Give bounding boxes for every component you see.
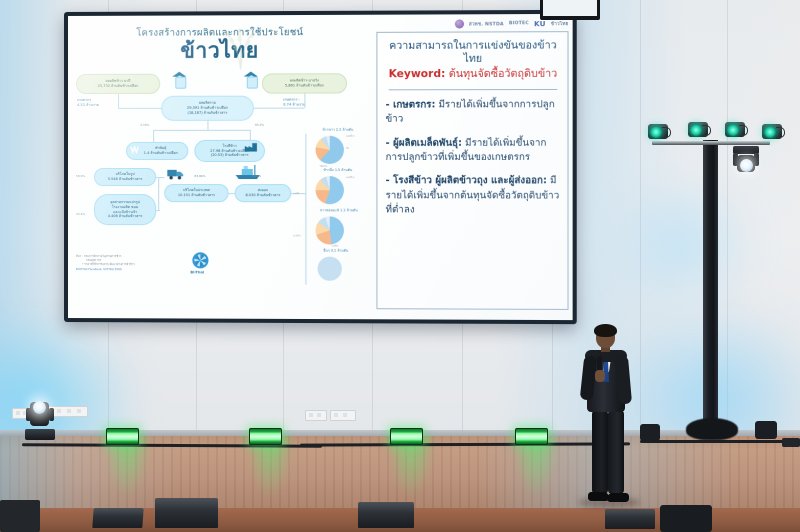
wall-monitor	[540, 0, 600, 20]
presenter-arm	[615, 356, 632, 405]
wall-seam	[727, 0, 728, 436]
node-total-output[interactable]: ผลผลิตรวม29,391 ล้านตันข้าวเปลือก(18,187…	[161, 96, 254, 121]
stage-equipment-case	[0, 500, 40, 532]
panel-heading: ความสามารถในการแข่งขันของข้าวไทย	[386, 39, 561, 66]
panel-divider	[389, 89, 558, 90]
thai-rice-logo: ข้าวไทย	[551, 20, 569, 27]
connector-export-spine	[305, 134, 306, 285]
pie-title-2: ข้าวนึ่ง 1.5 ล้านตัน	[307, 168, 368, 173]
screen-surface: โครงสร้างการผลิตและการใช้ประโยชน์ ข้าวไท…	[68, 14, 573, 320]
floor-case	[782, 438, 800, 447]
pie-chart-white-rice[interactable]	[316, 136, 344, 164]
par-light[interactable]	[762, 124, 782, 139]
seed-icon	[130, 146, 139, 155]
stage-monitor-speaker	[155, 498, 218, 528]
slide-content: โครงสร้างการผลิตและการใช้ประโยชน์ ข้าวไท…	[68, 14, 573, 320]
floor-led-bar[interactable]	[106, 428, 139, 445]
node-direct-consumption[interactable]: บริโภคในรูป5.546 ล้านตันข้าวสาร	[94, 168, 156, 186]
node-processing-industry[interactable]: อุตสาหกรรมแปรรูปโรงงานผลิต ขนมและแป้งข้า…	[94, 194, 156, 225]
power-cable	[640, 440, 800, 443]
presenter-leg	[592, 410, 608, 494]
pie-title-3: ขาวหอมมะลิ 1.2 ล้านตัน	[307, 208, 370, 213]
pie-chart-jasmine-rice[interactable]	[316, 216, 344, 244]
stage-monitor-speaker	[605, 509, 655, 529]
truss-base-cover	[686, 418, 738, 440]
bullet-mill-exporter: - โรงสีข้าว ผู้ผลิตข้าวถุง และผู้ส่งออก:…	[386, 175, 561, 219]
pie-chart-others[interactable]	[318, 257, 342, 281]
bullet-actor: - โรงสีข้าว ผู้ผลิตข้าวถุง และผู้ส่งออก:	[386, 176, 547, 187]
rice-sheaf-icon	[219, 27, 263, 69]
bullet-farmer: - เกษตรกร: มีรายได้เพิ่มขึ้นจากการปลูกข้…	[386, 98, 561, 127]
keyword-value: ต้นทุนจัดซื้อวัตถุดิบข้าว	[449, 68, 558, 80]
node-export[interactable]: ส่งออก8.030 ล้านตันข้าวสาร	[235, 184, 292, 202]
floor-fixture[interactable]	[640, 424, 660, 441]
slide-diagram-area: โครงสร้างการผลิตและการใช้ประโยชน์ ข้าวไท…	[68, 15, 370, 320]
pct-mill: 95.2%	[255, 123, 264, 127]
connector	[207, 121, 208, 130]
pie-slice-label: อเมริกา	[293, 234, 301, 238]
floor-led-bar[interactable]	[515, 428, 548, 445]
node-paddy-main-season[interactable]: ผลผลิตข้าว-นาปี25,732 ล้านตันข้าวเปลือก	[76, 74, 160, 94]
truss-crossbar	[652, 141, 770, 145]
pie-chart-parboiled-rice[interactable]	[316, 176, 344, 204]
nstda-logo: สวทช. NSTDA	[469, 20, 504, 27]
pie-title-4: อื่นๆ 3.1 ล้านตัน	[307, 249, 364, 254]
label-farmers-second: เกษตรกร -0.74 ล้านราย	[283, 98, 305, 108]
node-domestic-consumption[interactable]: บริโภคในประเทศ10.151 ล้านตันข้าวสาร	[164, 184, 228, 202]
ku-logo: KU	[534, 20, 546, 28]
pct-consume: 58.6%	[76, 174, 85, 178]
slide-footnotes: ที่มา : กรมการค้าภายใน/กรมการข้าว กรมศุล…	[76, 254, 196, 271]
connector	[158, 177, 159, 211]
connector	[156, 210, 160, 211]
presenter-shoe	[607, 493, 629, 502]
competitiveness-panel: ความสามารถในการแข่งขันของข้าวไทย Keyword…	[376, 31, 568, 310]
par-light[interactable]	[648, 124, 668, 139]
farmer-icon	[244, 71, 258, 86]
biotec-logo: BIOTEC	[509, 21, 529, 26]
truss-pole	[703, 140, 718, 430]
presenter-hair	[594, 324, 617, 337]
pie-slice-label: จีน	[346, 147, 349, 151]
wall-socket	[330, 410, 356, 421]
pct-export: 39.1%	[252, 174, 261, 178]
pie-slice-label: เอเชีย	[293, 192, 299, 196]
connector	[118, 94, 119, 108]
presenter-leg	[608, 410, 624, 494]
projection-screen[interactable]: โครงสร้างการผลิตและการใช้ประโยชน์ ข้าวไท…	[64, 10, 577, 324]
bullet-seed-producer: - ผู้ผลิตเมล็ดพันธุ์: มีรายได้เพิ่มขึ้นจ…	[386, 136, 561, 165]
connector	[153, 130, 250, 131]
truck-icon	[167, 168, 184, 180]
par-light[interactable]	[725, 122, 745, 137]
keyword-label: Keyword:	[389, 68, 446, 80]
bullet-actor: - เกษตรกร:	[386, 99, 436, 110]
label-farmers-main: เกษตรกร4.52 ล้านราย	[77, 98, 99, 108]
farmer-icon	[172, 72, 186, 87]
slide-text-area: สวทช. NSTDA BIOTEC KU ข้าวไทย ความสามารถ…	[370, 14, 572, 320]
presenter-hand	[595, 370, 605, 382]
connector	[153, 130, 154, 142]
pct-industry: 43.4%	[76, 212, 85, 216]
pie-slice-label: แอฟริกา	[346, 135, 355, 139]
pie-slice-label: แอฟริกา	[346, 176, 355, 180]
stage-monitor-speaker	[92, 508, 143, 528]
connector	[304, 94, 305, 108]
panel-keyword-line: Keyword: ต้นทุนจัดซื้อวัตถุดิบข้าว	[386, 68, 561, 82]
floor-led-bar[interactable]	[249, 428, 282, 445]
pct-seed: 4.76%	[140, 123, 149, 127]
truss-moving-head-light[interactable]	[731, 146, 761, 186]
floor-fixture[interactable]	[755, 421, 777, 439]
floor-moving-head-light[interactable]	[22, 398, 56, 442]
stage-monitor-speaker	[358, 502, 414, 528]
bullet-actor: - ผู้ผลิตเมล็ดพันธุ์:	[386, 137, 462, 148]
connector	[118, 108, 161, 109]
wall-seam	[640, 0, 641, 436]
scene-root: โครงสร้างการผลิตและการใช้ประโยชน์ ข้าวไท…	[0, 0, 800, 532]
floor-led-bar[interactable]	[390, 428, 423, 445]
pie-title-1: ข้าวขาว 2.2 ล้านตัน	[307, 128, 368, 133]
pct-domestic: 83.86%	[194, 174, 205, 178]
wall-socket	[305, 410, 327, 421]
audience-head	[660, 505, 712, 532]
presenter-shoe	[588, 492, 609, 501]
presenter	[576, 326, 640, 508]
connector	[254, 108, 305, 109]
factory-icon	[245, 142, 258, 152]
node-paddy-second-season[interactable]: ผลผลิตข้าว-นาปรัง5,861 ล้านตันข้าวเปลือก	[262, 73, 347, 93]
connector	[229, 193, 235, 194]
connector	[156, 177, 164, 178]
org-seal-icon	[455, 19, 464, 28]
connector	[250, 130, 251, 140]
par-light[interactable]	[688, 122, 708, 137]
